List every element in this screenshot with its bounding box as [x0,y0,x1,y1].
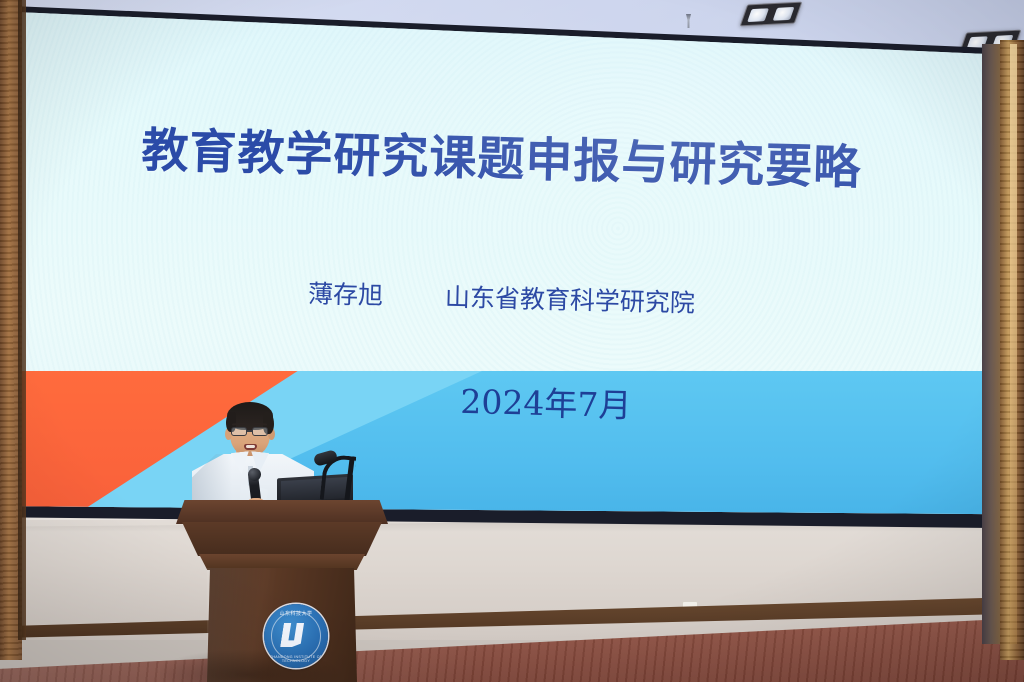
eyeglasses-lens-left [231,427,247,436]
eyeglasses-bridge [247,430,252,432]
emblem-text-top: 山东科技大学 [264,610,328,617]
emblem-text-bottom: SHANDONG INSTITUTE OF TECHNOLOGY [264,655,328,663]
presentation-slide: 教育教学研究课题申报与研究要略 薄存旭 山东省教育科学研究院 2024年7月 [16,0,987,522]
wood-column-right-inner [982,44,1002,644]
photo-scene: 教育教学研究课题申报与研究要略 薄存旭 山东省教育科学研究院 2024年7月 [0,0,1024,682]
slide-title: 教育教学研究课题申报与研究要略 [16,108,987,201]
presenter-affiliation: 山东省教育科学研究院 [445,283,696,318]
podium-body [182,522,382,556]
recessed-spotlight-icon [740,2,803,27]
podium-top [176,500,388,524]
subtitle-spacer [391,304,437,305]
projection-screen: 教育教学研究课题申报与研究要略 薄存旭 山东省教育科学研究院 2024年7月 [16,0,987,522]
wood-column-left-shadow [18,0,26,640]
wood-column-right-highlight [1010,44,1017,644]
eyeglasses-lens-right [252,427,268,436]
slide-subtitle: 薄存旭 山东省教育科学研究院 [16,267,987,327]
teeth [246,445,255,448]
institution-emblem: 山东科技大学 SHANDONG INSTITUTE OF TECHNOLOGY [264,604,328,668]
presenter-name: 薄存旭 [308,279,384,310]
